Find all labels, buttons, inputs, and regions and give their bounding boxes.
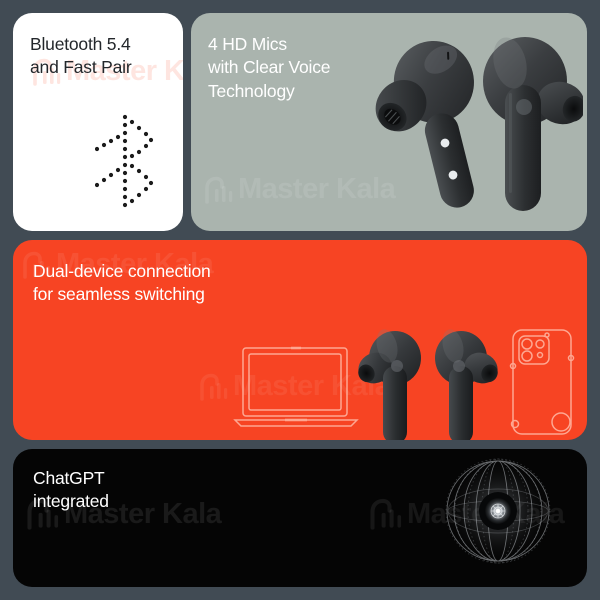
earbuds-pair-photo [353,23,583,223]
feature-card-mics: Master Kala 4 HD Mics with Clear Voice T… [191,13,587,231]
laptop-earbuds-phone-illustration [13,318,587,440]
earbud-right [435,327,504,440]
master-kala-logo-icon [368,497,402,531]
top-card-row: Master Kala Bluetooth 5.4 and Fast Pair [13,13,587,231]
feature-card-chatgpt: Master Kala Master Kala ChatGPT integrat… [13,449,587,587]
feature-card-dual-device: Master Kala Master Kala Dual-device conn… [13,240,587,440]
card-headline-mics: 4 HD Mics with Clear Voice Technology [208,33,330,103]
card-headline-dual-device: Dual-device connection for seamless swit… [33,260,211,307]
ai-orb-wireframe-icon [423,449,573,577]
bluetooth-dotted-logo-icon [95,113,155,209]
feature-card-bluetooth: Master Kala Bluetooth 5.4 and Fast Pair [13,13,183,231]
earbud-left [352,327,421,440]
product-feature-board: Master Kala Bluetooth 5.4 and Fast Pair [0,0,600,600]
phone-outline-icon [511,330,574,434]
card-headline-chatgpt: ChatGPT integrated [33,467,109,513]
master-kala-logo-icon [203,175,233,205]
laptop-outline-icon [235,348,357,426]
card-headline-bluetooth: Bluetooth 5.4 and Fast Pair [30,33,131,80]
